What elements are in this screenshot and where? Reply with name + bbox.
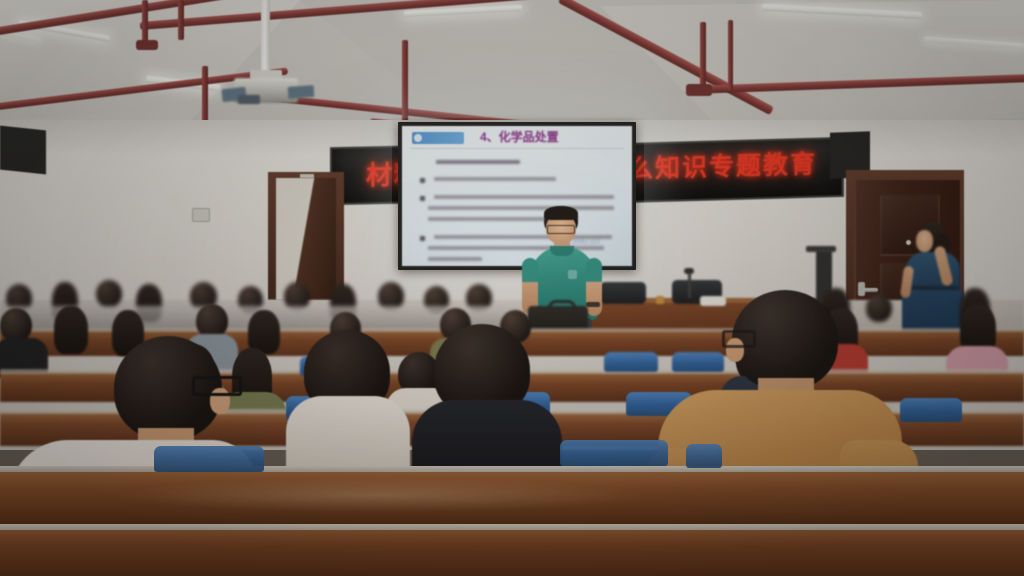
slide-title: 4、化学品处置 [480, 130, 559, 144]
sprinkler-drop-right-3 [728, 20, 733, 90]
desk-row-5 [0, 530, 1024, 576]
desk-sheen [120, 478, 640, 512]
sprinkler-joint-left [136, 40, 158, 50]
chair-r4-2[interactable] [560, 440, 668, 466]
podium-microphone-head [684, 268, 694, 274]
chair-r4-3[interactable] [686, 444, 722, 468]
slide-lead-line [436, 160, 520, 164]
slide-logo-mark [414, 134, 422, 142]
presenter-logo-patch [568, 270, 577, 279]
slide-title-rule [410, 148, 624, 149]
student-d1-glasses[interactable] [192, 376, 242, 396]
slide-bullet-marker-1 [420, 178, 425, 183]
presenter-collar [550, 246, 574, 256]
presenter-hair-top [544, 206, 578, 220]
presenter-glasses[interactable] [547, 225, 575, 234]
student-body-left-center [286, 396, 410, 474]
chair-r4-1[interactable] [154, 446, 264, 472]
student-d2-glasses[interactable] [722, 330, 756, 348]
wall-mounted-box-left [192, 208, 210, 222]
slide-bullet-marker-2 [420, 196, 425, 201]
projector-lens [238, 95, 260, 104]
slide-bullet-line-3c [428, 257, 482, 261]
slide-bullet-marker-3 [420, 236, 425, 241]
av-equipment-arm [806, 246, 836, 252]
sprinkler-joint-center [686, 84, 712, 96]
projector-mount-pole [261, 0, 270, 72]
sprinkler-drop-left-2 [178, 0, 184, 40]
led-banner-right-text: 么知识专题教育 [628, 149, 817, 184]
blackboard-left [0, 126, 46, 175]
projector-right-panel [288, 85, 315, 99]
lecture-hall-photo: 材料 么知识专题教育 4、化学品处置 ustc.edu.cn [0, 0, 1024, 576]
slide-bullet-line-2a [434, 195, 614, 199]
standing-woman-face [916, 230, 933, 252]
conduit-elbow-left [300, 174, 314, 178]
sprinkler-drop-right-2 [700, 22, 706, 88]
slide-bullet-line-1 [434, 177, 556, 181]
